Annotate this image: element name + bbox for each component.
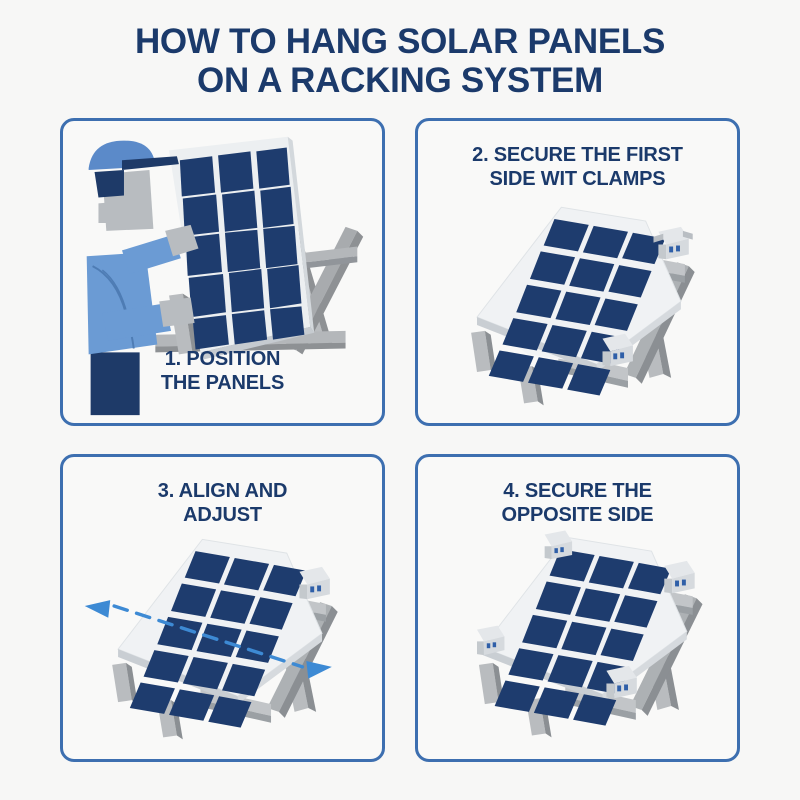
step-1-label-line-1: 1. POSITION: [63, 347, 382, 371]
clamp-bottom-left-4: [477, 626, 504, 655]
step-4-label-line-1: 4. SECURE THE: [418, 479, 737, 503]
steps-grid: 1. POSITION THE PANELS 2. SECURE THE FIR…: [60, 118, 740, 763]
step-card-3[interactable]: 3. ALIGN AND ADJUST: [60, 454, 385, 762]
clamp-top-right-4: [664, 561, 694, 593]
step-4-label-line-2: OPPOSITE SIDE: [418, 503, 737, 527]
step-4-label: 4. SECURE THE OPPOSITE SIDE: [418, 479, 737, 527]
step-3-label-line-2: ADJUST: [63, 503, 382, 527]
step-2-label-line-2: SIDE WIT CLAMPS: [418, 167, 737, 191]
step-card-4[interactable]: 4. SECURE THE OPPOSITE SIDE: [415, 454, 740, 762]
page-title: HOW TO HANG SOLAR PANELS ON A RACKING SY…: [0, 22, 800, 100]
step-1-label-line-2: THE PANELS: [63, 371, 382, 395]
step-3-label: 3. ALIGN AND ADJUST: [63, 479, 382, 527]
clamp-top-left-4: [545, 531, 572, 559]
page-title-line-2: ON A RACKING SYSTEM: [0, 61, 800, 100]
infographic-root: HOW TO HANG SOLAR PANELS ON A RACKING SY…: [0, 0, 800, 800]
step-2-label: 2. SECURE THE FIRST SIDE WIT CLAMPS: [418, 143, 737, 191]
step-2-label-line-1: 2. SECURE THE FIRST: [418, 143, 737, 167]
page-title-line-1: HOW TO HANG SOLAR PANELS: [0, 22, 800, 61]
step-3-label-line-1: 3. ALIGN AND: [63, 479, 382, 503]
step-card-2[interactable]: 2. SECURE THE FIRST SIDE WIT CLAMPS: [415, 118, 740, 426]
step-card-1[interactable]: 1. POSITION THE PANELS: [60, 118, 385, 426]
clamp-top-right-3: [299, 567, 329, 599]
step-1-label: 1. POSITION THE PANELS: [63, 347, 382, 395]
